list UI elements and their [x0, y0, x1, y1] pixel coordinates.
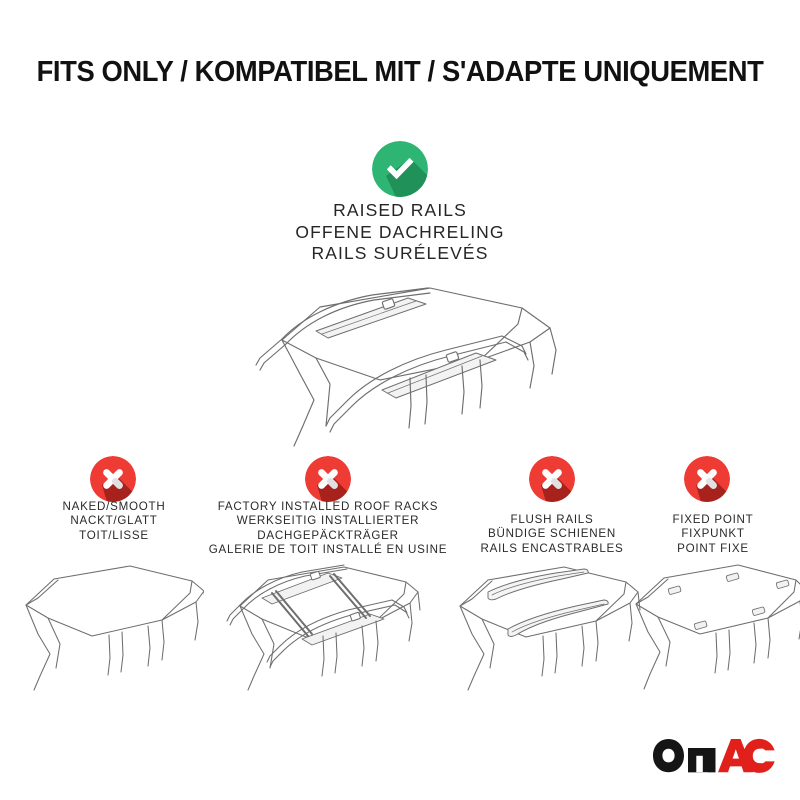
compatible-label-line: OFFENE DACHRELING	[0, 222, 800, 244]
incompatible-label-line: POINT FIXE	[630, 542, 796, 556]
page-title: FITS ONLY / KOMPATIBEL MIT / S'ADAPTE UN…	[16, 55, 784, 89]
car-roof-naked-svg	[14, 558, 204, 693]
omac-logo-dark-part	[653, 739, 716, 772]
car-roof-flush-rails-illustration	[446, 556, 641, 694]
car-roof-fixed-point-illustration	[624, 556, 800, 694]
omac-logo-svg	[652, 738, 776, 774]
car-roof-naked-illustration	[14, 558, 204, 693]
incompatible-label-line: FIXPUNKT	[630, 527, 796, 541]
x-circle-svg	[90, 456, 136, 502]
check-circle-icon	[372, 141, 428, 197]
compatible-label-line: RAILS SURÉLEVÉS	[0, 243, 800, 265]
incompatible-label-line: NAKED/SMOOTH	[8, 500, 220, 514]
incompatible-labels-naked-smooth: NAKED/SMOOTH NACKT/GLATT TOIT/LISSE	[8, 500, 220, 543]
car-roof-flush-rails-svg	[446, 556, 641, 694]
car-roof-factory-racks-illustration	[224, 552, 424, 694]
compatible-label-line: RAISED RAILS	[0, 200, 800, 222]
x-circle-icon	[305, 456, 351, 502]
incompatible-label-line: DACHGEPÄCKTRÄGER	[200, 529, 456, 543]
incompatible-labels-fixed-point: FIXED POINT FIXPUNKT POINT FIXE	[630, 513, 796, 556]
incompatible-label-line: FLUSH RAILS	[450, 513, 654, 527]
incompatible-label-line: TOIT/LISSE	[8, 529, 220, 543]
incompatible-label-line: FACTORY INSTALLED ROOF RACKS	[200, 500, 456, 514]
x-circle-svg	[529, 456, 575, 502]
car-roof-raised-rails-illustration	[230, 282, 590, 452]
car-roof-raised-rails-svg	[230, 282, 590, 452]
car-roof-fixed-point-svg	[624, 556, 800, 694]
incompatible-label-line: NACKT/GLATT	[8, 514, 220, 528]
incompatible-labels-factory-roof-racks: FACTORY INSTALLED ROOF RACKS WERKSEITIG …	[200, 500, 456, 558]
x-circle-icon	[684, 456, 730, 502]
x-circle-icon	[529, 456, 575, 502]
incompatible-label-line: BÜNDIGE SCHIENEN	[450, 527, 654, 541]
x-circle-svg	[684, 456, 730, 502]
incompatible-label-line: FIXED POINT	[630, 513, 796, 527]
fitment-infographic: FITS ONLY / KOMPATIBEL MIT / S'ADAPTE UN…	[0, 0, 800, 800]
check-circle-svg	[372, 141, 428, 197]
compatible-labels: RAISED RAILS OFFENE DACHRELING RAILS SUR…	[0, 200, 800, 265]
incompatible-label-line: WERKSEITIG INSTALLIERTER	[200, 514, 456, 528]
omac-logo-red-part	[718, 739, 775, 773]
x-circle-icon	[90, 456, 136, 502]
incompatible-label-line: RAILS ENCASTRABLES	[450, 542, 654, 556]
incompatible-labels-flush-rails: FLUSH RAILS BÜNDIGE SCHIENEN RAILS ENCAS…	[450, 513, 654, 556]
omac-logo	[652, 738, 776, 774]
x-circle-svg	[305, 456, 351, 502]
car-roof-factory-racks-svg	[224, 552, 424, 694]
